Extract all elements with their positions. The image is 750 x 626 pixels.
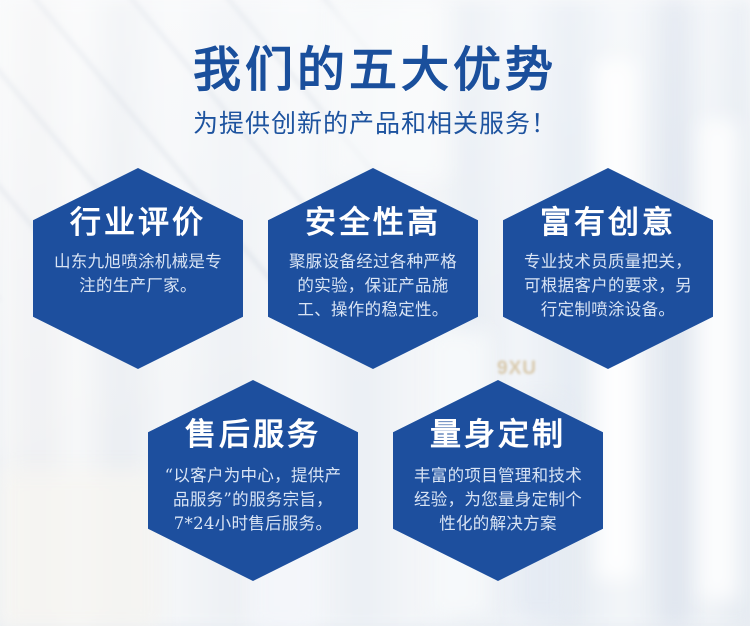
advantage-body: 丰富的项目管理和技术经验，为您量身定制个性化的解决方案: [401, 464, 595, 536]
advantage-title: 量身定制: [401, 416, 595, 454]
advantage-title: 行业评价: [41, 204, 235, 242]
page-subtitle: 为提供创新的产品和相关服务！: [0, 108, 750, 140]
advantage-title: 富有创意: [511, 204, 705, 242]
promo-banner: 9XU 我们的五大优势 为提供创新的产品和相关服务！ 行业评价 山东九旭喷涂机械…: [0, 0, 750, 626]
advantage-body: 专业技术员质量把关，可根据客户的要求，另行定制喷涂设备。: [511, 250, 705, 322]
page-title: 我们的五大优势: [0, 42, 750, 98]
advantage-title: 安全性高: [276, 204, 470, 242]
background-watermark: 9XU: [497, 358, 537, 380]
background-blur-shape: [0, 470, 160, 626]
advantage-body: 聚脲设备经过各种严格的实验，保证产品施工、操作的稳定性。: [276, 250, 470, 322]
advantage-body: “以客户为中心，提供产品服务”的服务宗旨，7*24小时售后服务。: [156, 464, 350, 536]
background-blur-shape: [700, 120, 738, 600]
advantage-body: 山东九旭喷涂机械是专注的生产厂家。: [41, 250, 235, 298]
advantage-title: 售后服务: [156, 416, 350, 454]
